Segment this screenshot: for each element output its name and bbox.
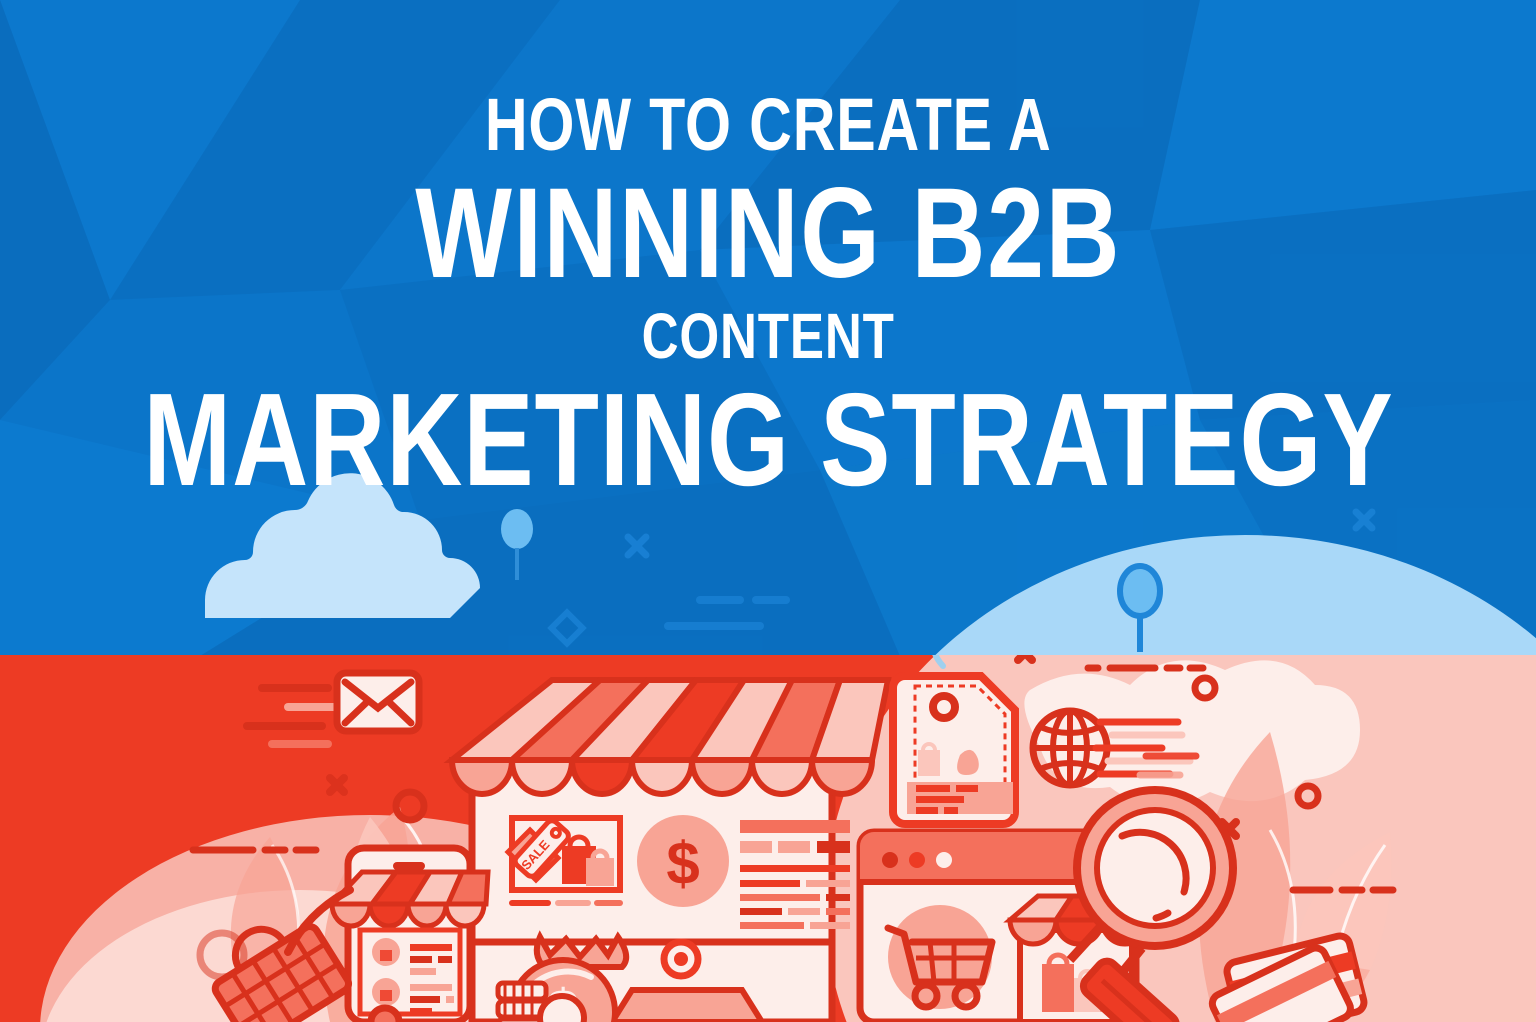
poster-canvas: HOW TO CREATE A WINNING B2B CONTENT MARK…	[0, 0, 1536, 1022]
illustration-scene: SALE $	[0, 655, 1536, 1022]
envelope-icon	[337, 673, 419, 731]
browser-dots	[882, 852, 952, 868]
sky-background	[0, 0, 1536, 656]
sale-poster: SALE	[508, 818, 620, 903]
dollar-symbol: $	[666, 830, 699, 897]
storefront: SALE $	[452, 680, 888, 1022]
dollar-badge-icon: $	[637, 815, 729, 907]
shopping-cart-icon	[888, 905, 992, 1009]
mobile-shop-icon	[332, 848, 488, 1022]
